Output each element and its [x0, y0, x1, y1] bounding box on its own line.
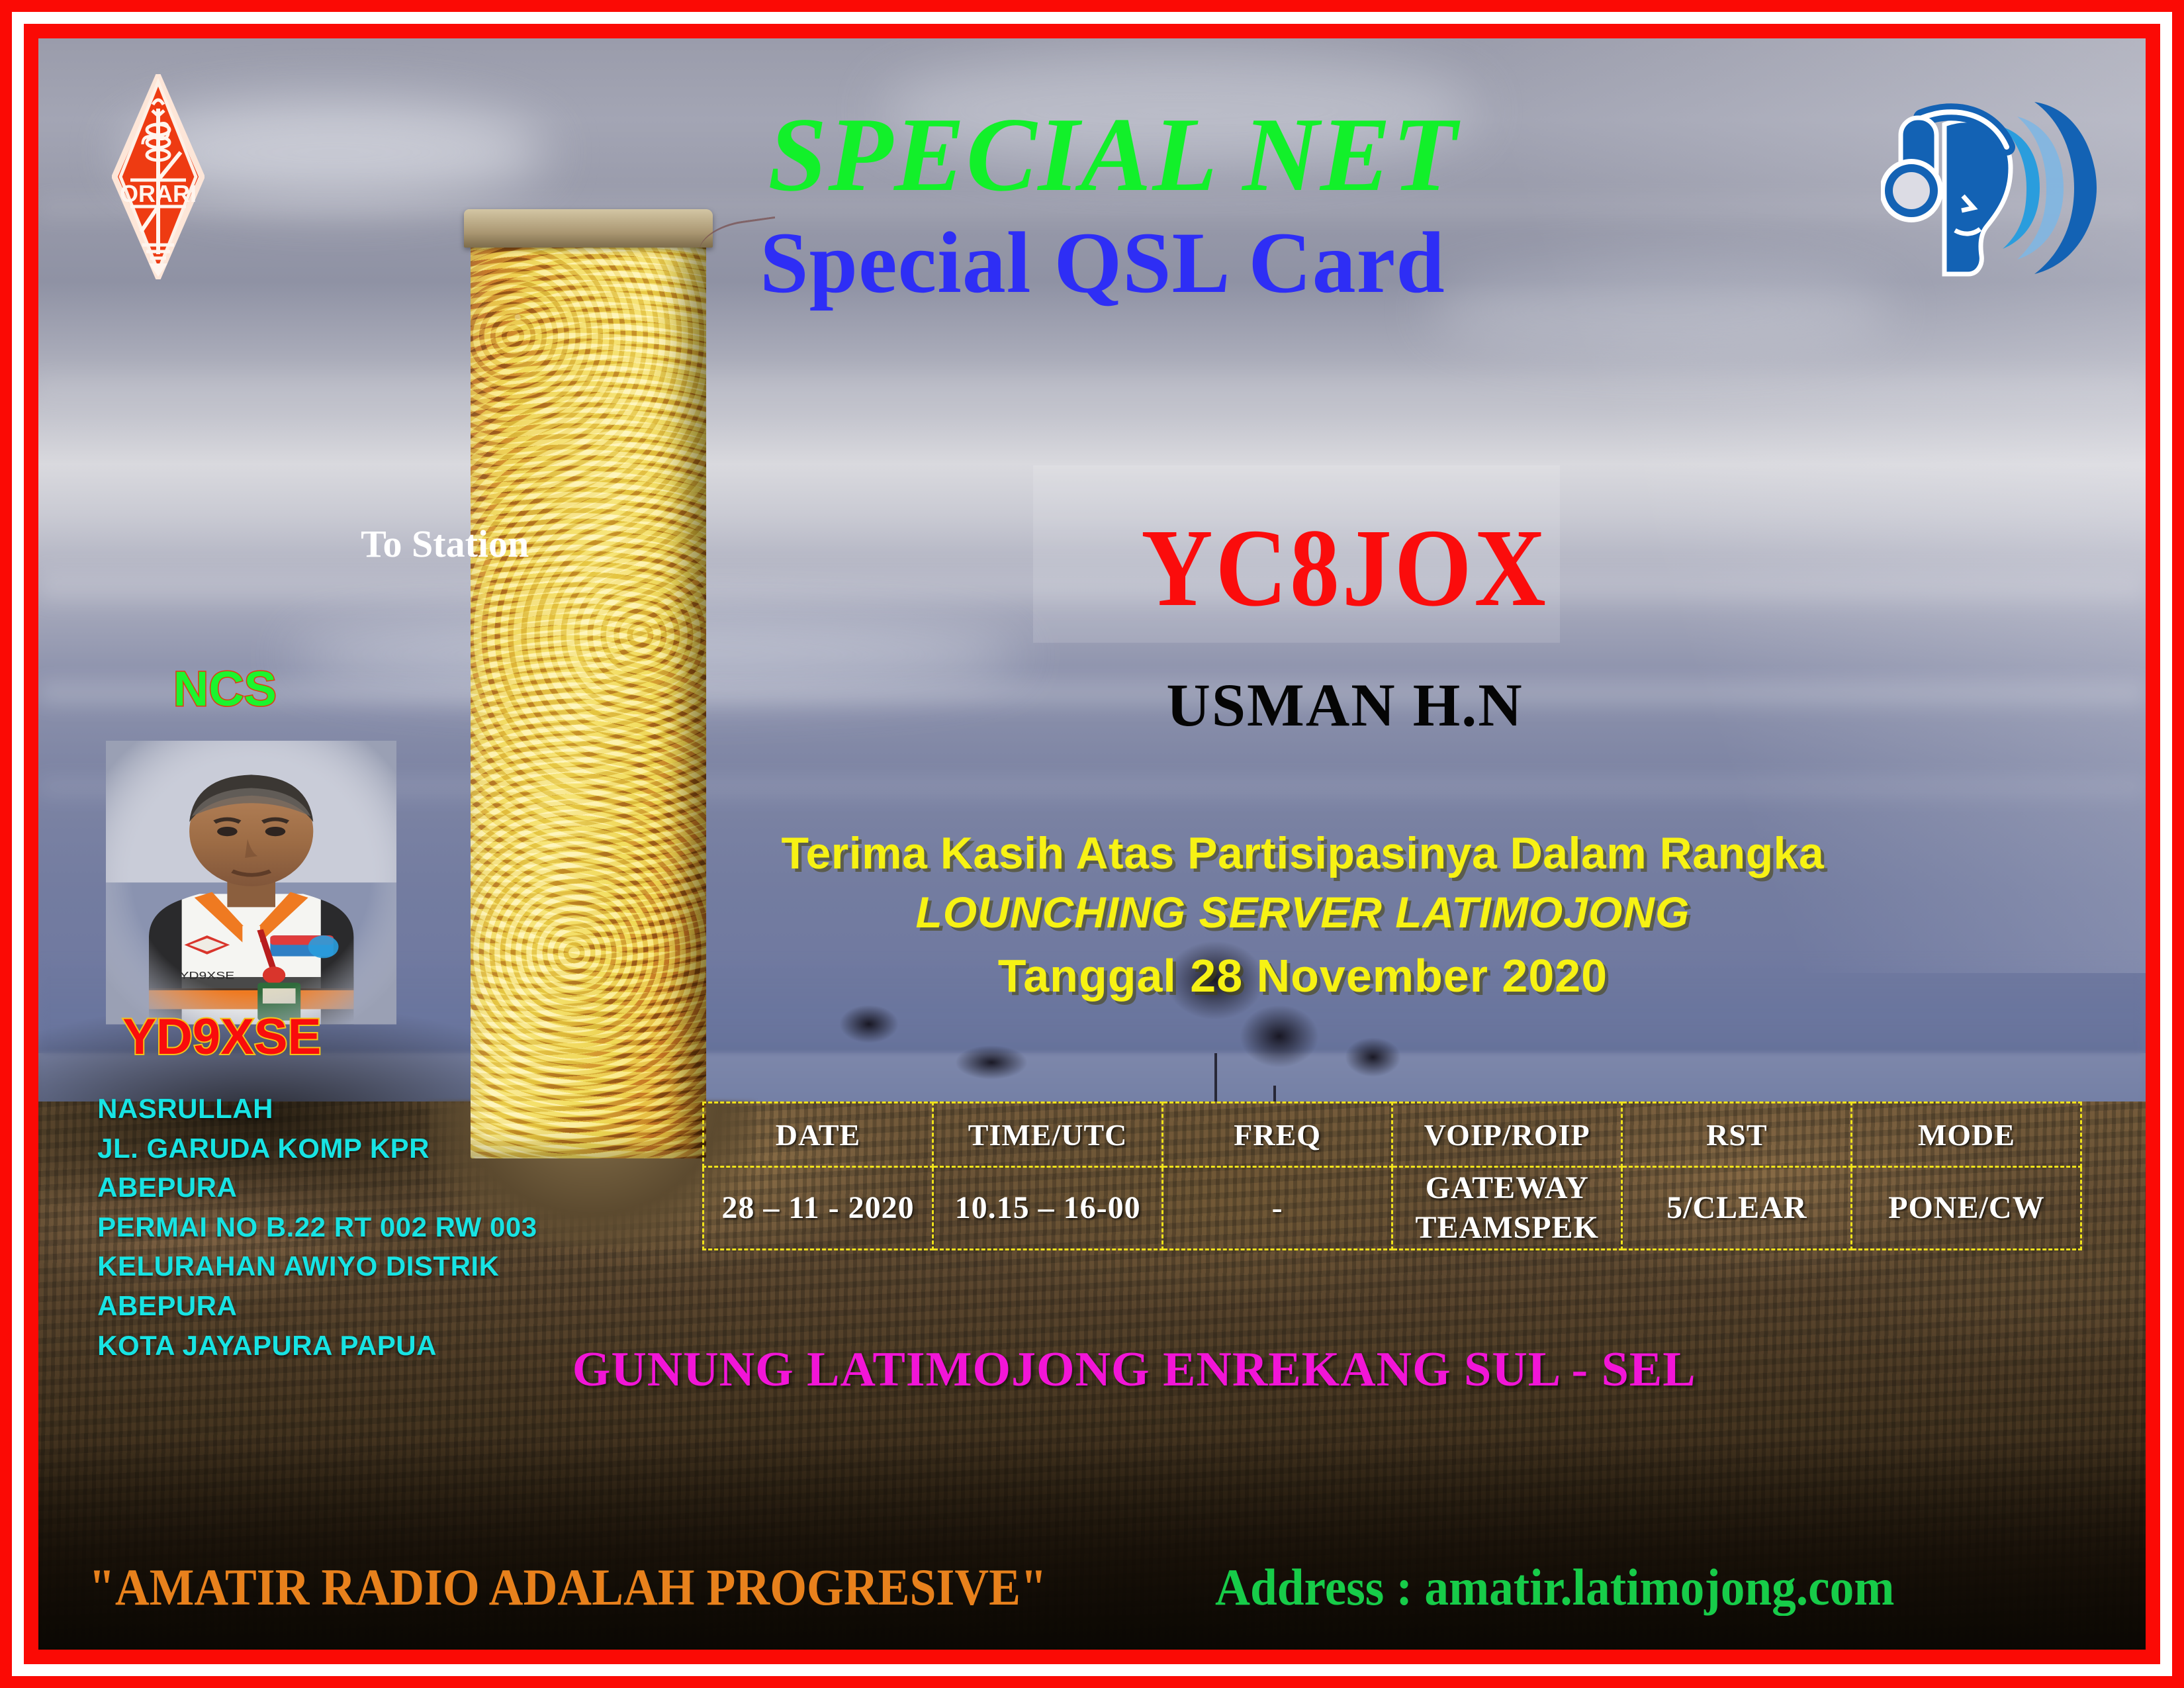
thanks-message-block: Terima Kasih Atas Partisipasinya Dalam R…: [38, 825, 2146, 1010]
table-header-rst: RST: [1622, 1103, 1852, 1167]
foreground-shadow: [38, 1440, 2146, 1650]
table-header-row: DATE TIME/UTC FREQ VOIP/ROIP RST MODE: [703, 1103, 2081, 1167]
address-line: JL. GARUDA KOMP KPR: [97, 1129, 537, 1168]
address-line: PERMAI NO B.22 RT 002 RW 003: [97, 1207, 537, 1247]
table-header-time: TIME/UTC: [933, 1103, 1163, 1167]
table-row: 28 – 11 - 2020 10.15 – 16-00 - GATEWAY T…: [703, 1167, 2081, 1250]
table-header-voip: VOIP/ROIP: [1392, 1103, 1622, 1167]
table-header-date: DATE: [703, 1103, 933, 1167]
motto-text: "AMATIR RADIO ADALAH PROGRESIVE": [89, 1558, 1047, 1617]
cell-freq: -: [1163, 1167, 1392, 1250]
address-block: NASRULLAH JL. GARUDA KOMP KPR ABEPURA PE…: [97, 1089, 537, 1365]
card-background-scene: ORARI: [38, 38, 2146, 1650]
cell-voip: GATEWAY TEAMSPEK: [1392, 1167, 1622, 1250]
qsl-card-white-gap: ORARI: [12, 12, 2172, 1676]
tree-silhouette: [1345, 1037, 1401, 1077]
qsl-card-inner-border: ORARI: [24, 24, 2160, 1664]
table-header-freq: FREQ: [1163, 1103, 1392, 1167]
footer-row: "AMATIR RADIO ADALAH PROGRESIVE" Address…: [38, 1558, 2146, 1617]
address-line: NASRULLAH: [97, 1089, 537, 1129]
tree-silhouette: [955, 1045, 1028, 1080]
ncs-callsign: YD9XSE: [122, 1008, 321, 1066]
address-line: KELURAHAN AWIYO DISTRIK: [97, 1246, 537, 1286]
thanks-line-2-event: LOUNCHING SERVER LATIMOJONG: [460, 882, 2146, 943]
cell-time: 10.15 – 16-00: [933, 1167, 1163, 1250]
page-title-special-net: SPECIAL NET: [38, 101, 2146, 207]
address-line: ABEPURA: [97, 1168, 537, 1207]
thanks-line-1: Terima Kasih Atas Partisipasinya Dalam R…: [460, 825, 2146, 882]
operator-name: USMAN H.N: [38, 675, 2146, 735]
station-callsign: YC8JOX: [38, 512, 2146, 624]
address-line: ABEPURA: [97, 1286, 537, 1326]
cell-rst: 5/CLEAR: [1622, 1167, 1852, 1250]
tree-silhouette: [1240, 1005, 1319, 1068]
cell-mode: PONE/CW: [1852, 1167, 2081, 1250]
table-header-mode: MODE: [1852, 1103, 2081, 1167]
qso-details-table: DATE TIME/UTC FREQ VOIP/ROIP RST MODE 28…: [702, 1102, 2083, 1250]
tree-silhouette: [839, 1005, 899, 1043]
page-subtitle-special-qsl-card: Special QSL Card: [38, 219, 2146, 306]
location-label: GUNUNG LATIMOJONG ENREKANG SUL - SEL: [38, 1342, 2146, 1398]
website-address-text: Address : amatir.latimojong.com: [1215, 1558, 1894, 1617]
cell-date: 28 – 11 - 2020: [703, 1167, 933, 1250]
qsl-card-outer-border: ORARI: [0, 0, 2184, 1688]
thanks-line-3-date: Tanggal 28 November 2020: [460, 943, 2146, 1010]
